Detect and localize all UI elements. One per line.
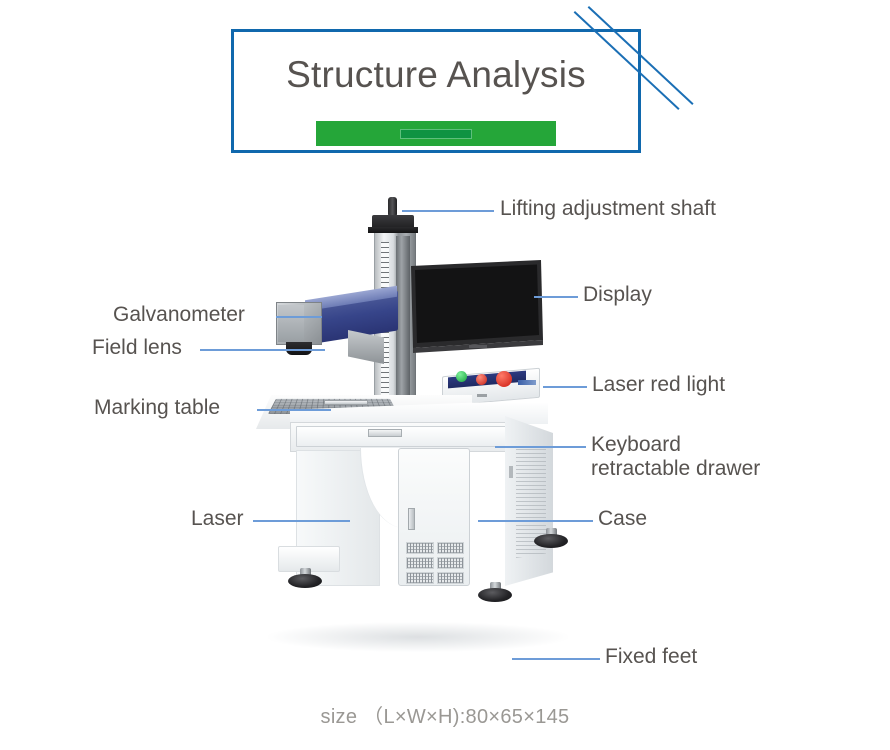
leader-line-fixed-feet — [512, 658, 600, 660]
fixed-foot-front — [478, 582, 512, 604]
red-emergency-stop-button[interactable] — [496, 371, 512, 387]
foot-pad — [534, 534, 568, 548]
cabinet-door-handle[interactable] — [408, 508, 415, 530]
fixed-foot-rear — [534, 528, 564, 548]
size-caption: size （L×W×H):80×65×145 — [0, 700, 890, 729]
callout-label-field-lens: Field lens — [92, 336, 182, 360]
laser-marking-machine-illustration — [250, 190, 580, 670]
leader-line-case — [478, 520, 593, 522]
leader-line-keyboard-retractable-drawer — [495, 446, 586, 448]
fixed-foot-left — [288, 568, 322, 590]
floor-shadow — [268, 622, 568, 652]
galvanometer-face — [278, 305, 304, 342]
callout-label-display: Display — [583, 283, 652, 307]
callout-label-laser: Laser — [191, 507, 244, 531]
door-vent — [406, 542, 434, 554]
cabinet-door-ventilation-grilles — [406, 542, 464, 584]
door-vent — [406, 557, 434, 569]
cabinet-side-latch — [509, 466, 513, 478]
callout-label-galvanometer: Galvanometer — [113, 303, 245, 327]
title-accent-bar — [316, 121, 556, 146]
callout-label-case: Case — [598, 507, 647, 531]
lifting-shaft-knob-icon — [388, 197, 397, 217]
callout-label-marking-table: Marking table — [94, 396, 220, 420]
door-vent — [437, 557, 465, 569]
display-monitor — [405, 256, 545, 366]
door-vent — [437, 542, 465, 554]
callout-label-lifting-adjustment-shaft: Lifting adjustment shaft — [500, 197, 716, 221]
title-accent-bar-inner — [400, 129, 472, 139]
green-start-button[interactable] — [456, 371, 467, 382]
leader-line-laser-red-light — [543, 386, 587, 388]
foot-pad — [478, 588, 512, 602]
callout-label-laser-red-light: Laser red light — [592, 373, 725, 397]
leader-line-display — [534, 296, 578, 298]
callout-label-fixed-feet: Fixed feet — [605, 645, 697, 669]
title-banner: Structure Analysis — [231, 29, 641, 153]
control-panel-logo — [518, 380, 536, 385]
leader-line-marking-table — [257, 409, 331, 411]
callout-label-keyboard-retractable-drawer: Keyboard retractable drawer — [591, 433, 760, 482]
leader-line-laser — [253, 520, 350, 522]
drawer-handle[interactable] — [368, 429, 402, 437]
page-title: Structure Analysis — [234, 54, 638, 96]
leader-line-field-lens — [200, 349, 325, 351]
leader-line-galvanometer — [276, 316, 322, 318]
leader-line-lifting-adjustment-shaft — [402, 210, 494, 212]
control-panel-usb-port — [477, 394, 487, 397]
door-vent — [406, 572, 434, 584]
red-stop-button[interactable] — [476, 374, 487, 385]
foot-pad — [288, 574, 322, 588]
door-vent — [437, 572, 465, 584]
marking-table-slot — [324, 400, 368, 405]
